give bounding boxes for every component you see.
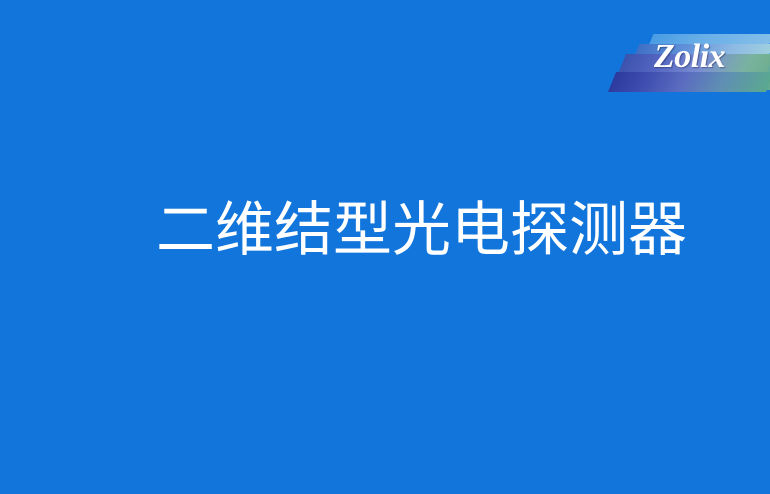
logo-wordmark: Zolix bbox=[654, 40, 725, 74]
logo-band-bottom bbox=[608, 72, 770, 92]
slide-canvas: Zolix 二维结型光电探测器 bbox=[0, 0, 770, 494]
zolix-logo[interactable]: Zolix bbox=[608, 28, 770, 96]
slide-title: 二维结型光电探测器 bbox=[156, 198, 636, 262]
